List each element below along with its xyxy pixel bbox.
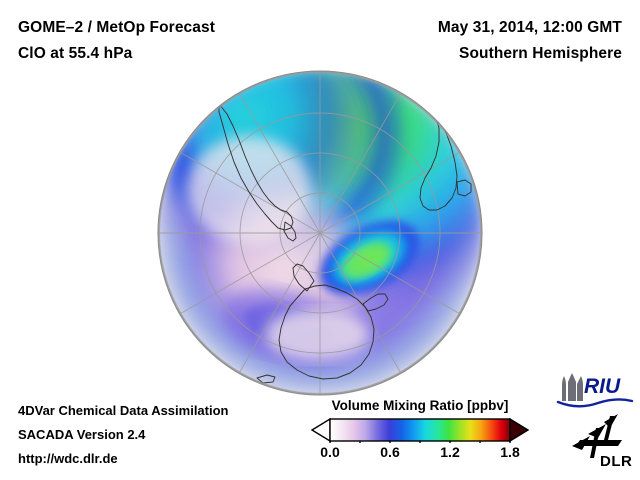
colorbar-tick-3: 1.8	[500, 444, 519, 460]
title-region: Southern Hemisphere	[459, 45, 622, 63]
colorbar-scale	[300, 417, 540, 443]
colorbar-gradient	[330, 419, 510, 441]
globe-field	[158, 71, 482, 395]
colorbar-over-arrow	[510, 419, 528, 441]
title-datetime: May 31, 2014, 12:00 GMT	[438, 19, 622, 37]
dlr-wordmark: DLR	[600, 453, 632, 470]
riu-towers-icon	[562, 373, 583, 401]
footer-version: SACADA Version 2.4	[18, 427, 145, 442]
riu-wordmark: RIU	[584, 375, 621, 398]
globe-map	[157, 70, 483, 396]
colorbar: Volume Mixing Ratio [ppbv] 0.0 0.6 1.2 1…	[300, 398, 540, 476]
colorbar-tick-0: 0.0	[320, 444, 339, 460]
colorbar-under-arrow	[312, 419, 330, 441]
riu-logo: RIU	[556, 371, 634, 411]
title-species: ClO at 55.4 hPa	[18, 45, 132, 63]
footer-url: http://wdc.dlr.de	[18, 451, 118, 466]
title-instrument: GOME–2 / MetOp Forecast	[18, 19, 215, 37]
colorbar-tick-1: 0.6	[380, 444, 399, 460]
colorbar-tick-2: 1.2	[440, 444, 459, 460]
dlr-mark-icon	[572, 414, 622, 458]
colorbar-title: Volume Mixing Ratio [ppbv]	[300, 398, 540, 413]
dlr-logo: DLR	[566, 410, 632, 472]
footer-method: 4DVar Chemical Data Assimilation	[18, 403, 229, 418]
